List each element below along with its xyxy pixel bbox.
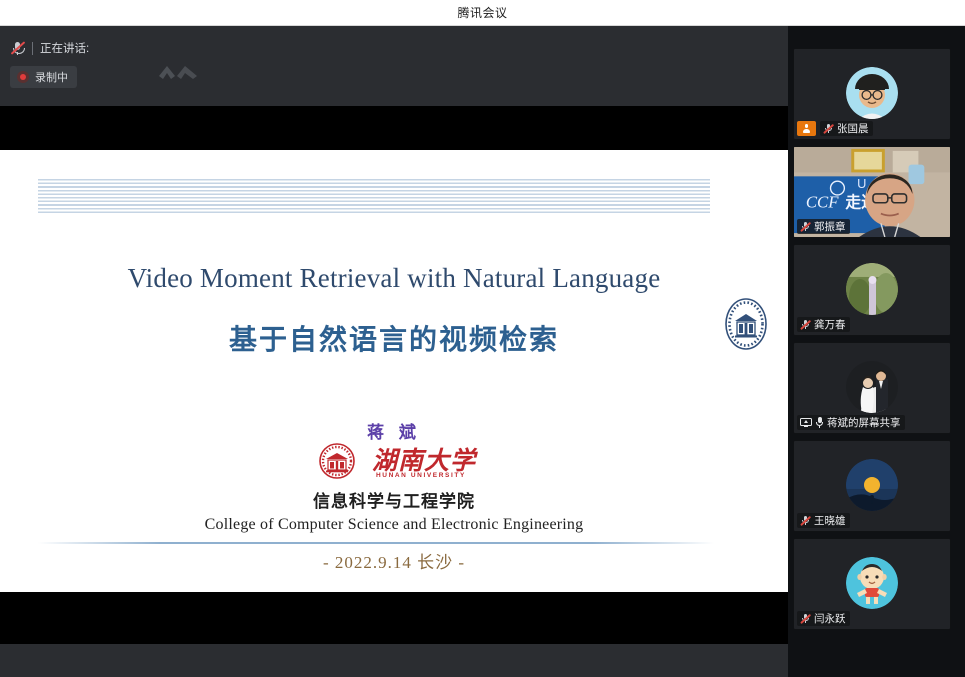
wedding-photo-avatar-icon	[846, 361, 898, 413]
letterbox-top	[0, 106, 788, 150]
participant-name-chip: 闫永跃	[797, 611, 850, 626]
moon-night-avatar-icon	[846, 459, 898, 511]
window-title-bar: 腾讯会议	[0, 0, 965, 26]
stage-top-overlay: 正在讲话: 录制中	[0, 26, 788, 106]
record-dot-icon	[17, 71, 29, 83]
mic-muted-icon	[800, 221, 811, 232]
landscape-photo-avatar-icon	[846, 263, 898, 315]
college-name-english: College of Computer Science and Electron…	[0, 516, 788, 534]
cartoon-man-avatar-icon	[846, 67, 898, 119]
participant-name: 王晓雄	[814, 513, 846, 528]
slide-title-english: Video Moment Retrieval with Natural Lang…	[0, 263, 788, 294]
slide-author-name: 蒋 斌	[0, 418, 788, 443]
participant-name: 郭振章	[814, 219, 846, 234]
participant-name: 蒋斌的屏幕共享	[827, 415, 901, 430]
divider	[32, 42, 33, 55]
participant-name-chip: 蒋斌的屏幕共享	[797, 415, 905, 430]
shared-screen-stage[interactable]: 正在讲话: 录制中	[0, 26, 788, 677]
tencent-meeting-watermark-icon	[155, 62, 203, 84]
mic-muted-icon	[800, 515, 811, 526]
host-badge	[797, 121, 816, 136]
mic-muted-icon	[800, 319, 811, 330]
participant-tile[interactable]: 闫永跃	[793, 538, 951, 630]
college-name-chinese: 信息科学与工程学院	[0, 487, 788, 512]
screen-share-icon	[800, 418, 812, 428]
striped-banner-decoration	[38, 178, 710, 213]
participant-name: 龚万春	[814, 317, 846, 332]
cartoon-child-avatar-icon	[846, 557, 898, 609]
svg-text:CCF: CCF	[806, 193, 839, 212]
recording-label: 录制中	[35, 69, 68, 85]
participant-filmstrip[interactable]: 张国晨 CCF 走进 U	[788, 26, 965, 677]
slide-divider	[38, 542, 714, 544]
participant-tile[interactable]: CCF 走进 U 郭振章	[793, 146, 951, 238]
mic-muted-icon	[800, 613, 811, 624]
mic-muted-icon	[10, 41, 25, 56]
window-title: 腾讯会议	[457, 4, 507, 21]
participant-tile[interactable]: 王晓雄	[793, 440, 951, 532]
participant-name-chip: 龚万春	[797, 317, 850, 332]
presentation-slide: Video Moment Retrieval with Natural Lang…	[0, 150, 788, 592]
participant-tile[interactable]: 张国晨	[793, 48, 951, 140]
hunan-university-logo-icon: 湖南大学 HUNAN UNIVERSITY	[316, 442, 476, 486]
letterbox-bottom	[0, 592, 788, 644]
svg-text:U: U	[857, 176, 866, 191]
hnu-seal-mark-icon	[316, 442, 360, 486]
recording-badge: 录制中	[10, 66, 77, 88]
participant-name: 张国晨	[837, 121, 869, 136]
participant-name: 闫永跃	[814, 611, 846, 626]
participant-tile[interactable]: 龚万春	[793, 244, 951, 336]
slide-date-location: - 2022.9.14 长沙 -	[0, 548, 788, 573]
participant-name-chip: 郭振章	[797, 219, 850, 234]
slide-title-chinese: 基于自然语言的视频检索	[0, 318, 788, 358]
active-speaker-indicator: 正在讲话:	[10, 36, 89, 60]
participant-tile[interactable]: 蒋斌的屏幕共享	[793, 342, 951, 434]
tencent-meeting-window: 腾讯会议 正在讲话: 录制中	[0, 0, 965, 677]
microphone-icon	[815, 417, 824, 429]
participant-name-chip: 张国晨	[820, 121, 873, 136]
hnu-wordmark-english: HUNAN UNIVERSITY	[376, 472, 466, 479]
mic-muted-icon	[823, 123, 834, 134]
speaking-label: 正在讲话:	[40, 40, 89, 56]
participant-name-chip: 王晓雄	[797, 513, 850, 528]
